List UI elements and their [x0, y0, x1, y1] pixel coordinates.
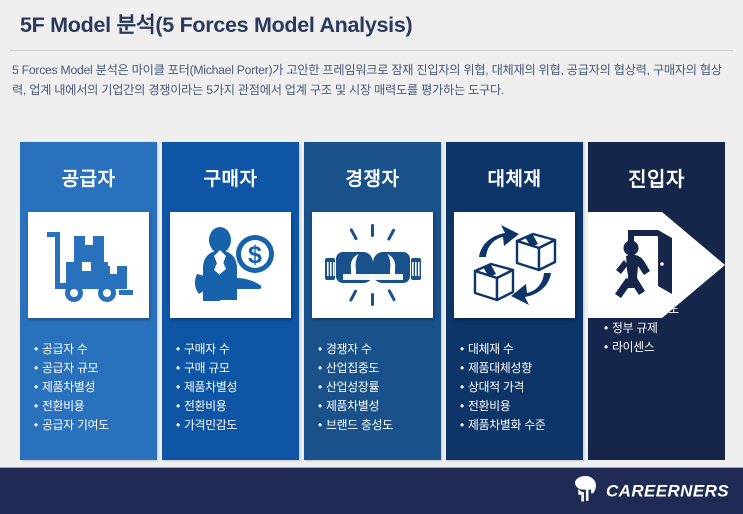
force-header-buyer: 구매자 — [162, 142, 299, 212]
title-divider — [10, 50, 733, 51]
icon-box-supplier — [28, 212, 149, 318]
list-item: 산업성장률 — [318, 378, 441, 397]
force-header-new-entrant: 진입자 — [588, 142, 725, 212]
force-header-competitor: 경쟁자 — [304, 142, 441, 212]
force-column-supplier[interactable]: 공급자 — [20, 142, 157, 460]
list-item: 대체재 수 — [460, 340, 583, 359]
list-item: 전환비용 — [34, 397, 157, 416]
list-item: 구매자 수 — [176, 340, 299, 359]
list-item: 공급자 수 — [34, 340, 157, 359]
list-item: 제품차별성 — [318, 397, 441, 416]
icon-box-buyer: $ — [170, 212, 291, 318]
arrow-plate-new-entrant — [588, 212, 725, 318]
list-item: 정부 규제 — [604, 319, 725, 338]
icon-box-substitute — [454, 212, 575, 318]
list-item: 구매 규모 — [176, 359, 299, 378]
list-item: 제품차별성 — [176, 378, 299, 397]
force-bullets-supplier: 공급자 수 공급자 규모 제품차별성 전환비용 공급자 기여도 — [20, 318, 157, 460]
list-item: 전환비용 — [460, 397, 583, 416]
list-item: 산업집중도 — [318, 359, 441, 378]
force-column-substitute[interactable]: 대체재 — [446, 142, 583, 460]
two-boxes-swap-arrows-icon — [467, 223, 563, 307]
force-column-competitor[interactable]: 경쟁자 — [304, 142, 441, 460]
list-item: 제품차별성 — [34, 378, 157, 397]
force-header-supplier: 공급자 — [20, 142, 157, 212]
list-item: 브랜드 충성도 — [318, 416, 441, 435]
list-item: 가격민감도 — [176, 416, 299, 435]
force-header-substitute: 대체재 — [446, 142, 583, 212]
list-item: 상대적 가격 — [460, 378, 583, 397]
slide-description: 5 Forces Model 분석은 마이클 포터(Michael Porter… — [12, 60, 734, 100]
brand-logo-text: CAREERNERS — [606, 481, 729, 501]
icon-box-competitor — [312, 212, 433, 318]
head-arrow-logo-icon — [570, 474, 600, 509]
brand-logo[interactable]: CAREERNERS — [570, 474, 729, 509]
force-bullets-competitor: 경쟁자 수 산업집중도 산업성장률 제품차별성 브랜드 충성도 — [304, 318, 441, 460]
slide-root: 5F Model 분석(5 Forces Model Analysis) 5 F… — [0, 0, 743, 514]
footer-bar: CAREERNERS — [0, 467, 743, 514]
five-forces-columns: 공급자 — [20, 142, 725, 460]
businessman-dollar-coin-icon: $ — [183, 226, 279, 304]
page-title: 5F Model 분석(5 Forces Model Analysis) — [20, 8, 412, 39]
force-bullets-buyer: 구매자 수 구매 규모 제품차별성 전환비용 가격민감도 — [162, 318, 299, 460]
list-item: 경쟁자 수 — [318, 340, 441, 359]
list-item: 제품대체성향 — [460, 359, 583, 378]
list-item: 전환비용 — [176, 397, 299, 416]
list-item: 라이센스 — [604, 338, 725, 357]
svg-text:$: $ — [248, 241, 262, 269]
list-item: 공급자 규모 — [34, 359, 157, 378]
force-column-new-entrant[interactable]: 진입자 — [588, 142, 725, 460]
boxing-gloves-clash-icon — [321, 222, 425, 308]
list-item: 공급자 기여도 — [34, 416, 157, 435]
hand-truck-boxes-icon — [41, 228, 137, 302]
force-column-buyer[interactable]: 구매자 $ — [162, 142, 299, 460]
force-bullets-substitute: 대체재 수 제품대체성향 상대적 가격 전환비용 제품차별화 수준 — [446, 318, 583, 460]
list-item: 제품차별화 수준 — [460, 416, 583, 435]
